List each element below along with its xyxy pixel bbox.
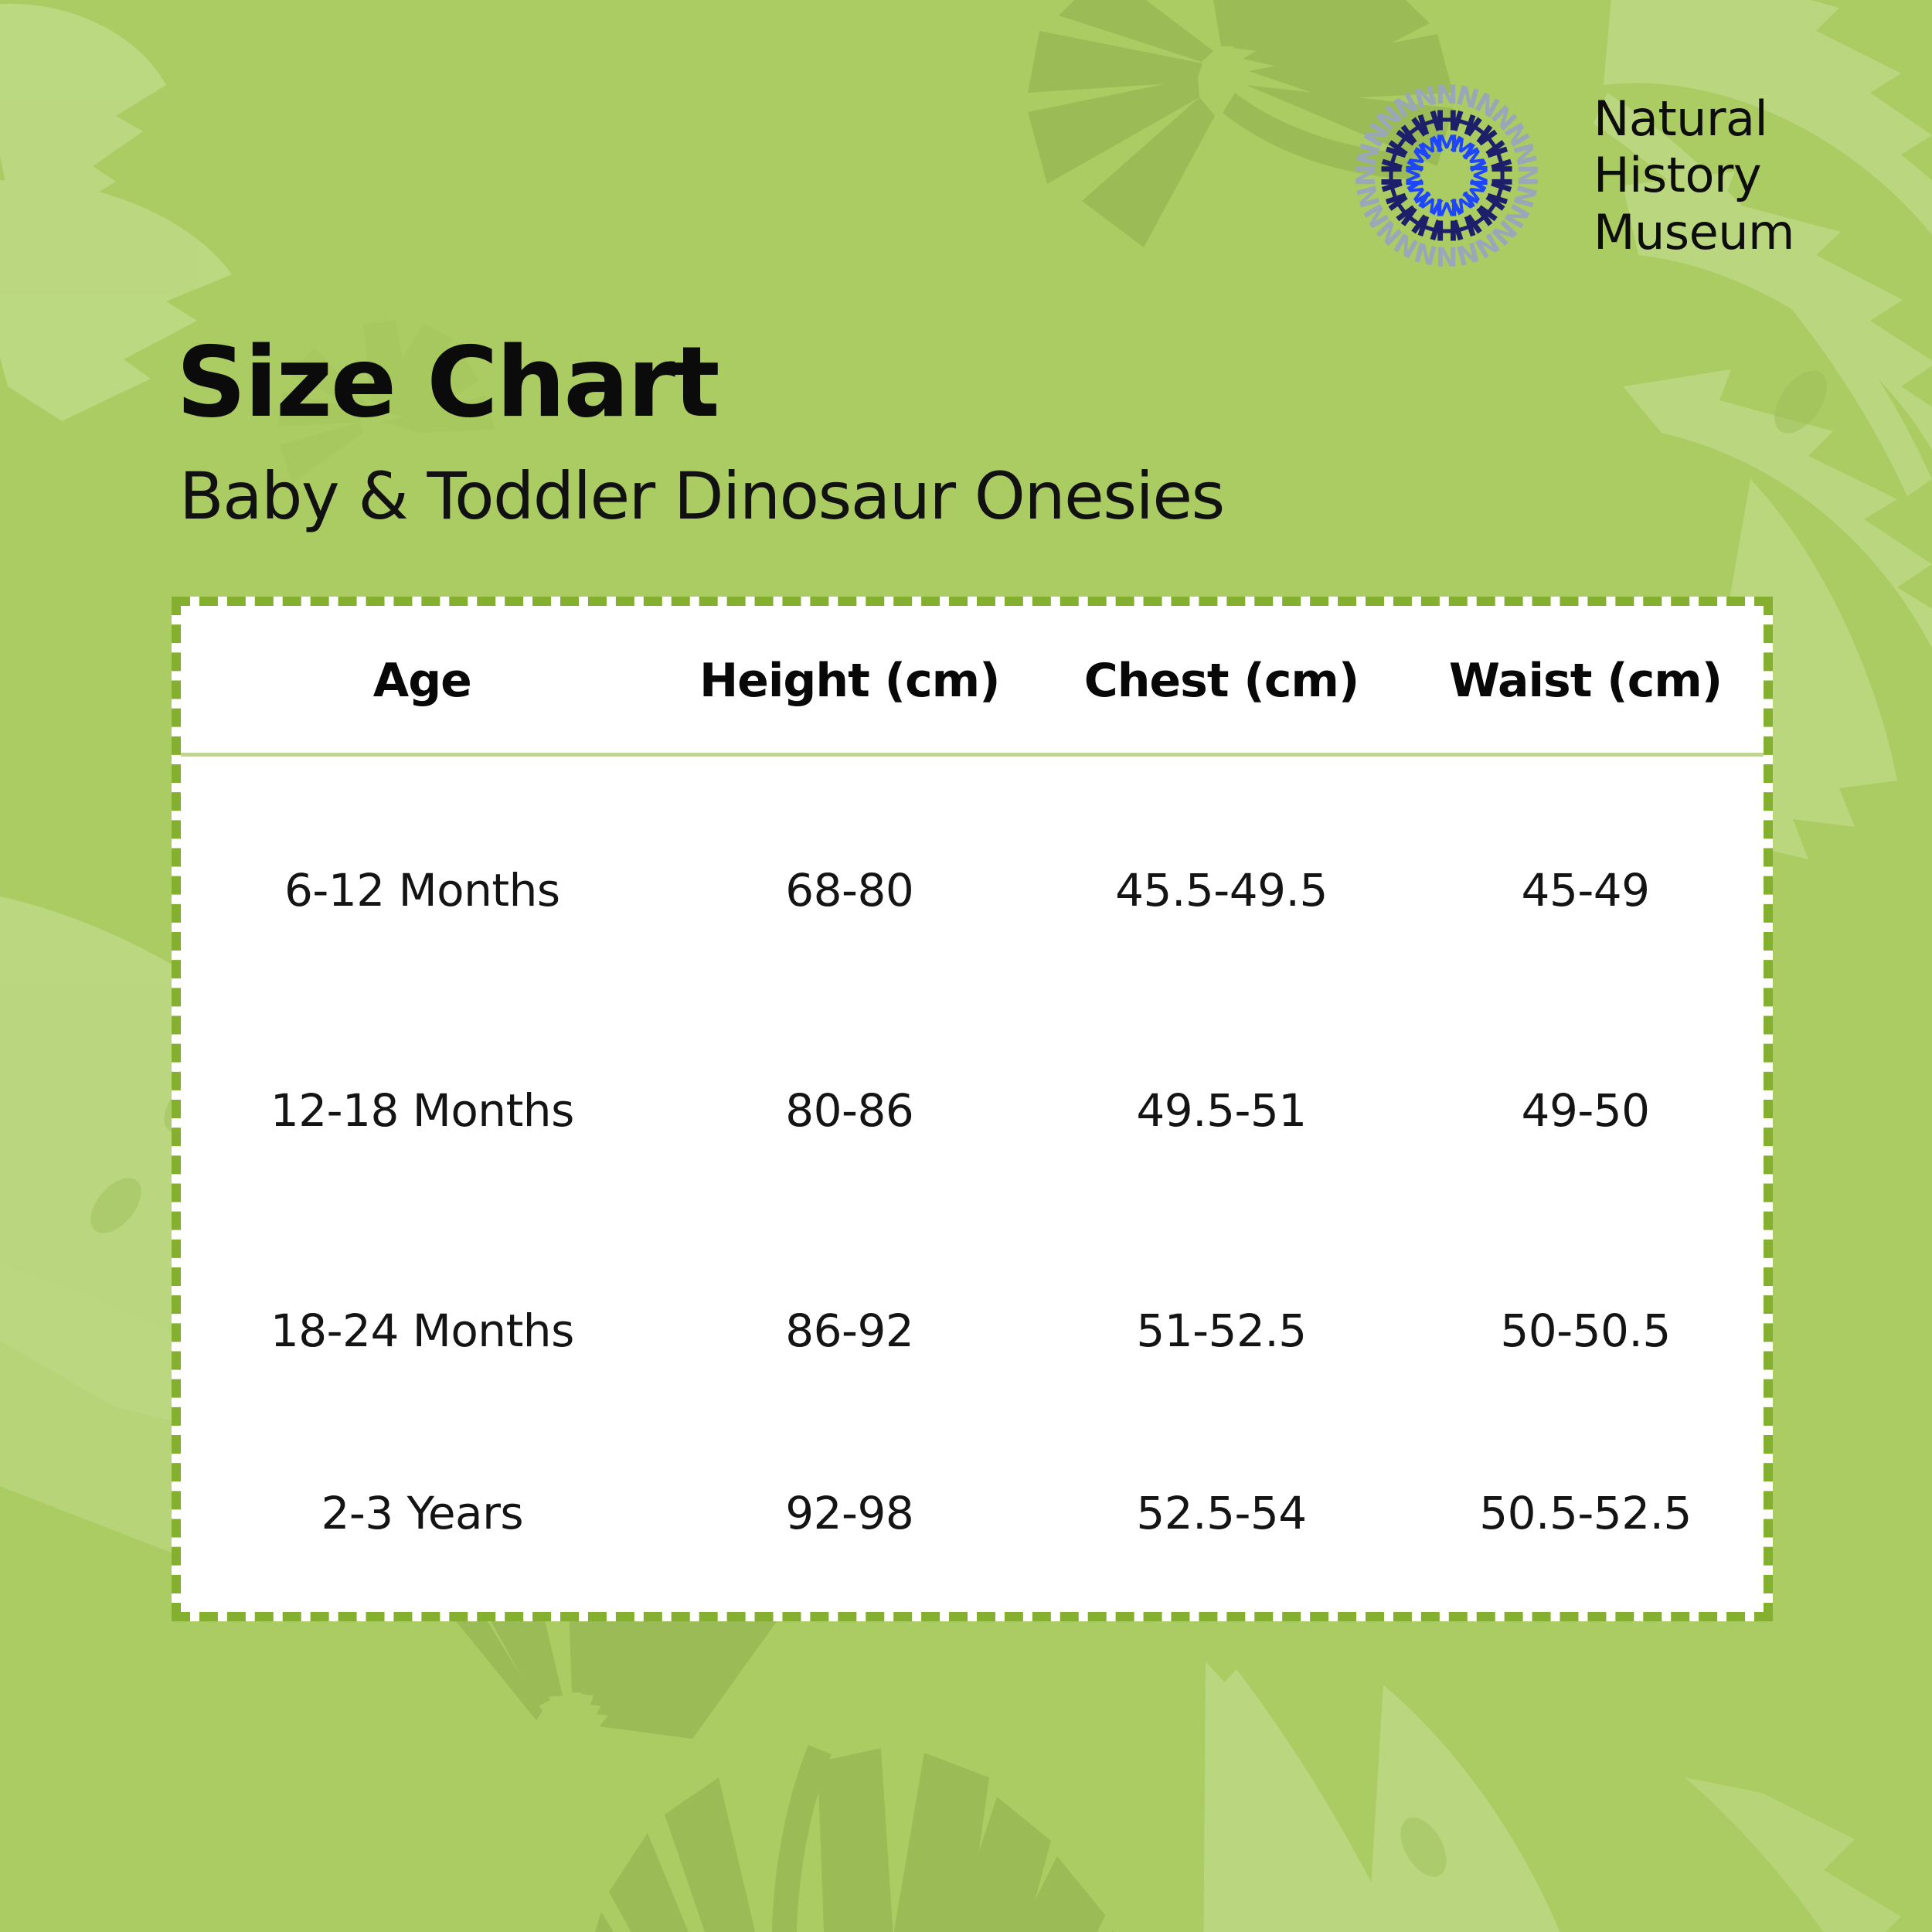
cell-age: 2-3 Years [181,1440,664,1707]
cell-waist: 45-49 [1407,755,1764,1001]
cell-waist: 50-50.5 [1407,1220,1764,1440]
table-row: 2-3 Years 92-98 52.5-54 50.5-52.5 [181,1440,1764,1707]
cell-chest: 52.5-54 [1036,1440,1407,1707]
cell-waist: 49-50 [1407,1000,1764,1220]
size-chart-table: Age Height (cm) Chest (cm) Waist (cm) 6-… [181,606,1764,1707]
cell-age: 12-18 Months [181,1000,664,1220]
cell-chest: 45.5-49.5 [1036,755,1407,1001]
page-title: Size Chart [176,334,718,431]
cell-age: 6-12 Months [181,755,664,1001]
table-row: 6-12 Months 68-80 45.5-49.5 45-49 [181,755,1764,1001]
cell-height: 68-80 [664,755,1036,1001]
nhm-logo: NNNNNNNNNNNNNNNNNNNNNNNN HHHHHHHHHHHHHHH… [1343,71,1915,280]
cell-waist: 50.5-52.5 [1407,1440,1764,1707]
nhm-radial-letters-icon: NNNNNNNNNNNNNNNNNNNNNNNN HHHHHHHHHHHHHHH… [1343,72,1550,279]
column-header-height: Height (cm) [664,606,1036,755]
cell-age: 18-24 Months [181,1220,664,1440]
cell-height: 80-86 [664,1000,1036,1220]
table-row: 12-18 Months 80-86 49.5-51 49-50 [181,1000,1764,1220]
table-header-row: Age Height (cm) Chest (cm) Waist (cm) [181,606,1764,755]
cell-chest: 49.5-51 [1036,1000,1407,1220]
column-header-age: Age [181,606,664,755]
size-chart-card: Age Height (cm) Chest (cm) Waist (cm) 6-… [172,597,1773,1621]
cell-chest: 51-52.5 [1036,1220,1407,1440]
nhm-wordmark: Natural History Museum [1594,90,1794,260]
cell-height: 86-92 [664,1220,1036,1440]
page-subtitle: Baby & Toddler Dinosaur Onesies [179,464,1224,529]
column-header-chest: Chest (cm) [1036,606,1407,755]
table-row: 18-24 Months 86-92 51-52.5 50-50.5 [181,1220,1764,1440]
column-header-waist: Waist (cm) [1407,606,1764,755]
cell-height: 92-98 [664,1440,1036,1707]
